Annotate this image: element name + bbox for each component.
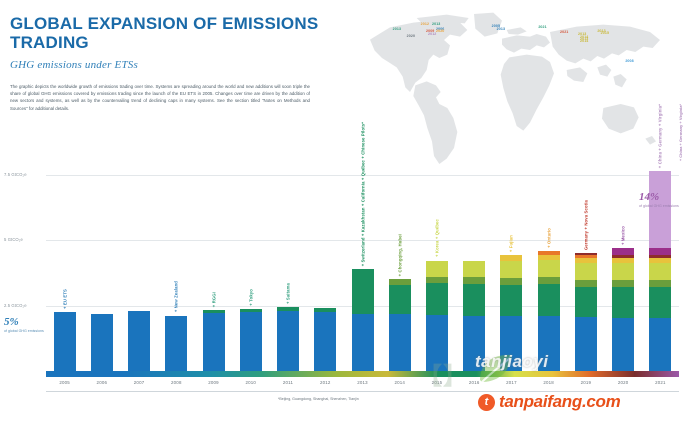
callout-start-share: 5% of global GHG emissions [4,316,46,334]
bar-segment [426,277,448,284]
bar-segment [612,248,634,255]
bar-annotation-text: + New Zealand [174,281,179,312]
bar-annotation: + Tokyo [248,289,253,306]
bar-2007 [128,311,150,371]
map-label: 2013 [432,22,440,26]
bar-2019: Germany + Nova Scotia [575,253,597,371]
x-axis-tick-2009: 2009 [208,380,219,385]
bar-segment [389,285,411,314]
bar-2014: + Chongqing, Hubei [389,279,411,371]
x-axis-tick-2008: 2008 [171,380,182,385]
map-label: 2021 [538,25,546,29]
chart-footnote: *Beijing, Guangdong, Shanghai, Shenzhen,… [278,397,359,402]
bar-segment [500,316,522,371]
x-axis-tick-2021: 2021 [655,380,666,385]
bar-annotation-text: + Saitama [286,283,291,304]
bar-annotation-text: Germany + Nova Scotia [583,200,588,250]
map-label: 2008 [625,59,633,63]
bar-segment [575,280,597,287]
bar-segment [463,284,485,316]
bar-annotation: + New Zealand [174,281,179,312]
bar-segment [314,312,336,371]
emissions-stacked-bar-chart: 7.5 GtCO₂e5 GtCO₂e2.5 GtCO₂e + EU ETS+ N… [0,175,687,424]
bar-segment [203,313,225,371]
x-axis-tick-2012: 2012 [320,380,331,385]
bar-2015: + Korea + Québec [426,261,448,372]
bar-segment [575,287,597,318]
map-label: 2014 [580,39,588,43]
bar-segment [649,287,671,318]
infographic-canvas: GLOBAL EXPANSION OF EMISSIONS TRADING GH… [0,0,687,424]
bar-annotation: + Ontario [546,228,551,248]
bar-annotation-text: + Switzerland + Kazakhstan + California … [360,122,365,266]
bar-segment [649,263,671,280]
bar-segment [128,311,150,371]
bar-segment [240,312,262,371]
page-title: GLOBAL EXPANSION OF EMISSIONS TRADING [10,14,340,52]
callout-start-value: 5% [4,316,46,328]
bar-annotation: + Switzerland + Kazakhstan + California … [360,122,365,266]
bar-segment [612,287,634,318]
bar-annotation-text: + Korea + Québec [434,219,439,257]
bar-segment [612,263,634,280]
callout-end-value: 14% [639,191,681,203]
bar-segment [649,318,671,371]
bar-segment [277,311,299,371]
bar-annotation-text: + Tokyo [248,289,253,306]
bar-segment [54,312,76,371]
bar-segment [649,280,671,287]
world-map: 2013201220062009202020122013202020052013… [350,8,687,173]
bar-segment [165,316,187,371]
bar-annotation-text: + Mexico [621,226,626,245]
map-label: 2015 [601,31,609,35]
map-label: 2021 [560,30,568,34]
bar-segment [500,285,522,316]
bar-segment [538,284,560,316]
bar-2011: + Saitama [277,307,299,371]
bar-segment [352,314,374,371]
bar-annotation-text: + RGGI [211,292,216,307]
bar-annotation: + RGGI [211,292,216,307]
bar-segment [575,317,597,371]
map-side-label: + China + Germany + Virginia* [678,104,683,161]
bar-2020: + Mexico [612,248,634,371]
bar-annotation: + Mexico [621,226,626,245]
x-axis-tick-2006: 2006 [97,380,108,385]
bar-2017: + Fujian [500,255,522,371]
bar-segment [426,283,448,314]
bar-annotation-text: + Ontario [546,228,551,248]
bar-segment [463,261,485,277]
bar-2018: + Ontario [538,251,560,371]
intro-paragraph: The graphic depicts the worldwide growth… [10,83,310,112]
chart-plot-area: + EU ETS+ New Zealand+ RGGI+ Tokyo+ Sait… [46,175,679,371]
bar-annotation: + Fujian [509,235,514,252]
world-map-shapes [350,8,687,173]
bar-annotation: + EU ETS [62,289,67,309]
bar-annotation: + Korea + Québec [434,219,439,257]
chart-axis-baseline [46,391,679,392]
x-axis-tick-2010: 2010 [245,380,256,385]
bar-segment [612,280,634,287]
y-axis-tick-label: 7.5 GtCO₂e [4,172,27,177]
bar-segment [352,269,374,314]
x-axis-tick-2019: 2019 [581,380,592,385]
header-block: GLOBAL EXPANSION OF EMISSIONS TRADING GH… [10,14,340,112]
x-axis-tick-2015: 2015 [432,380,443,385]
bar-2005: + EU ETS [54,312,76,371]
bar-2013: + Switzerland + Kazakhstan + California … [352,269,374,371]
map-label: 2013 [393,27,401,31]
bar-segment [538,316,560,371]
callout-end-share: 14% of global GHG emissions [639,191,681,209]
bar-annotation-text: + China + Germany + Virginia* [658,104,663,168]
map-label: 2020 [407,34,415,38]
x-axis-tick-2014: 2014 [394,380,405,385]
bar-2006 [91,314,113,371]
map-label: 2012 [421,22,429,26]
y-axis-tick-label: 5 GtCO₂e [4,237,23,242]
bar-annotation: + Chongqing, Hubei [397,234,402,276]
callout-end-note: of global GHG emissions [639,204,681,209]
x-axis-tick-2011: 2011 [283,380,293,385]
bar-segment [91,314,113,371]
bar-segment [500,278,522,285]
bar-2016 [463,261,485,371]
bar-2009: + RGGI [203,310,225,371]
bar-2010: + Tokyo [240,309,262,371]
x-axis-tick-2016: 2016 [469,380,480,385]
bar-segment [463,277,485,284]
map-label: 2020 [436,29,444,33]
bar-segment [426,315,448,371]
x-axis-tick-2018: 2018 [543,380,554,385]
bar-annotation: Germany + Nova Scotia [583,200,588,250]
x-axis-tick-2017: 2017 [506,380,517,385]
bar-annotation: + Saitama [286,283,291,304]
bar-segment [649,171,671,248]
bar-segment [389,314,411,371]
map-label: 2012 [428,32,436,36]
bar-annotation-text: + Fujian [509,235,514,252]
bar-2012 [314,308,336,371]
x-axis-tick-2007: 2007 [134,380,145,385]
bar-segment [463,316,485,371]
x-axis-tick-2005: 2005 [59,380,70,385]
page-subtitle: GHG emissions under ETSs [10,59,340,71]
bar-segment [538,260,560,277]
bar-segment [649,248,671,255]
x-axis-tick-2013: 2013 [357,380,368,385]
bar-segment [426,261,448,277]
bar-segment [500,261,522,278]
bar-annotation-text: + Chongqing, Hubei [397,234,402,276]
y-axis-tick-label: 2.5 GtCO₂e [4,303,27,308]
callout-start-note: of global GHG emissions [4,329,46,334]
chart-axis-gradient-bar [46,371,679,377]
bar-segment [612,318,634,371]
bar-annotation-text: + EU ETS [62,289,67,309]
bar-annotation: + China + Germany + Virginia* [658,104,663,168]
bar-segment [575,263,597,280]
bar-segment [538,277,560,284]
x-axis-tick-2020: 2020 [618,380,629,385]
map-label: 2013 [497,27,505,31]
bar-2008: + New Zealand [165,316,187,371]
